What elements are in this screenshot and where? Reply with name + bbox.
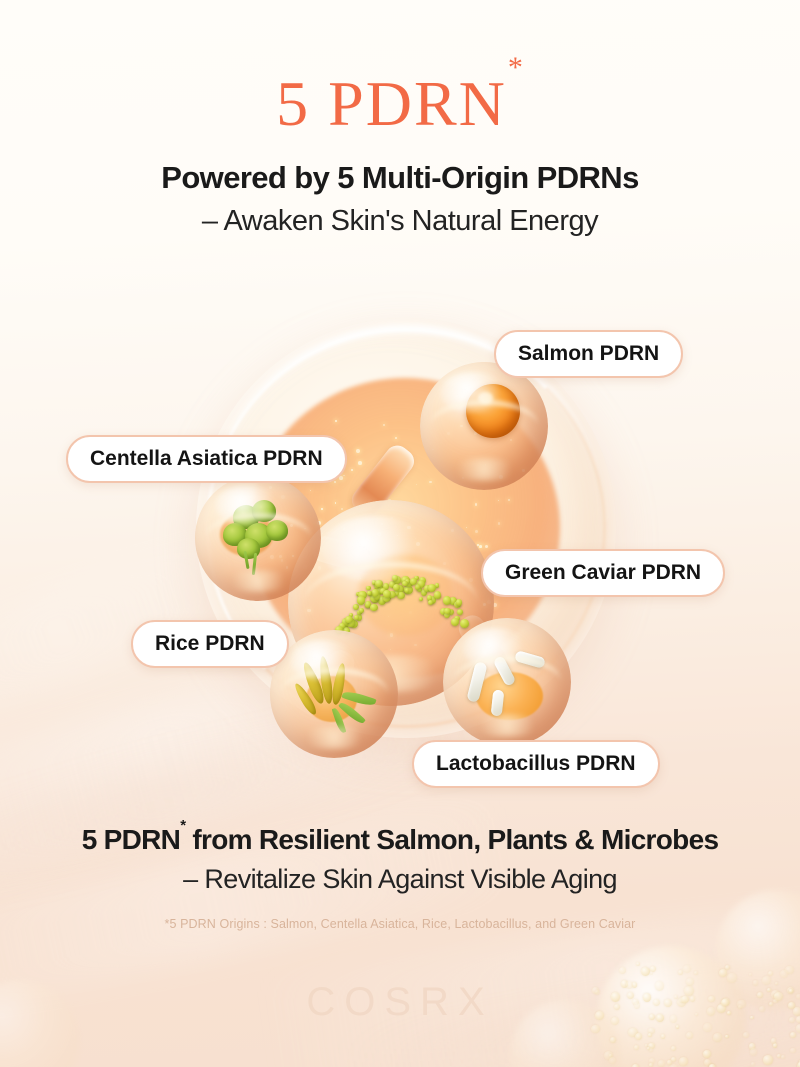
label-centella-asiatica-pdrn[interactable]: Centella Asiatica PDRN — [66, 435, 347, 483]
label-salmon-pdrn[interactable]: Salmon PDRN — [494, 330, 683, 378]
label-text: Salmon PDRN — [518, 342, 659, 366]
brand-watermark: COSRX — [0, 980, 800, 1025]
label-text: Lactobacillus PDRN — [436, 752, 636, 776]
orb-highlight-ring — [430, 400, 538, 451]
label-text: Green Caviar PDRN — [505, 561, 701, 585]
orb-highlight-bottom — [448, 458, 520, 481]
page-title: 5 PDRN* — [0, 72, 800, 136]
orb-salmon — [420, 362, 548, 490]
label-text: Centella Asiatica PDRN — [90, 447, 323, 471]
orb-highlight-ring — [280, 668, 388, 719]
label-green-caviar-pdrn[interactable]: Green Caviar PDRN — [481, 549, 725, 597]
footer-subheadline: – Revitalize Skin Against Visible Aging — [0, 864, 800, 895]
footer-asterisk: * — [180, 817, 185, 834]
promo-page: 5 PDRN* Powered by 5 Multi-Origin PDRNs … — [0, 0, 800, 1067]
footer-copy: 5 PDRN* from Resilient Salmon, Plants & … — [0, 824, 800, 931]
orb-highlight-ring — [453, 656, 561, 707]
label-lactobacillus-pdrn[interactable]: Lactobacillus PDRN — [412, 740, 660, 788]
label-rice-pdrn[interactable]: Rice PDRN — [131, 620, 289, 668]
orb-lactobacillus — [443, 618, 571, 746]
orb-highlight-bottom — [298, 726, 370, 749]
orb-highlight-bottom — [471, 714, 543, 737]
label-text: Rice PDRN — [155, 632, 265, 656]
footer-headline-rest: from Resilient Salmon, Plants & Microbes — [185, 824, 718, 855]
sub-headline-secondary: – Awaken Skin's Natural Energy — [0, 205, 800, 238]
page-title-text: 5 PDRN — [276, 68, 507, 139]
orb-highlight-bottom — [223, 570, 294, 593]
header: 5 PDRN* Powered by 5 Multi-Origin PDRNs … — [0, 0, 800, 238]
footer-headline-lead: 5 PDRN — [82, 824, 181, 855]
page-title-asterisk: * — [508, 51, 525, 84]
orb-highlight-ring — [205, 513, 311, 563]
sub-headline: Powered by 5 Multi-Origin PDRNs — [0, 160, 800, 196]
footnote: *5 PDRN Origins : Salmon, Centella Asiat… — [0, 917, 800, 931]
orb-rice — [270, 630, 398, 758]
orb-centella-asiatica — [195, 475, 321, 601]
footer-headline: 5 PDRN* from Resilient Salmon, Plants & … — [0, 824, 800, 856]
